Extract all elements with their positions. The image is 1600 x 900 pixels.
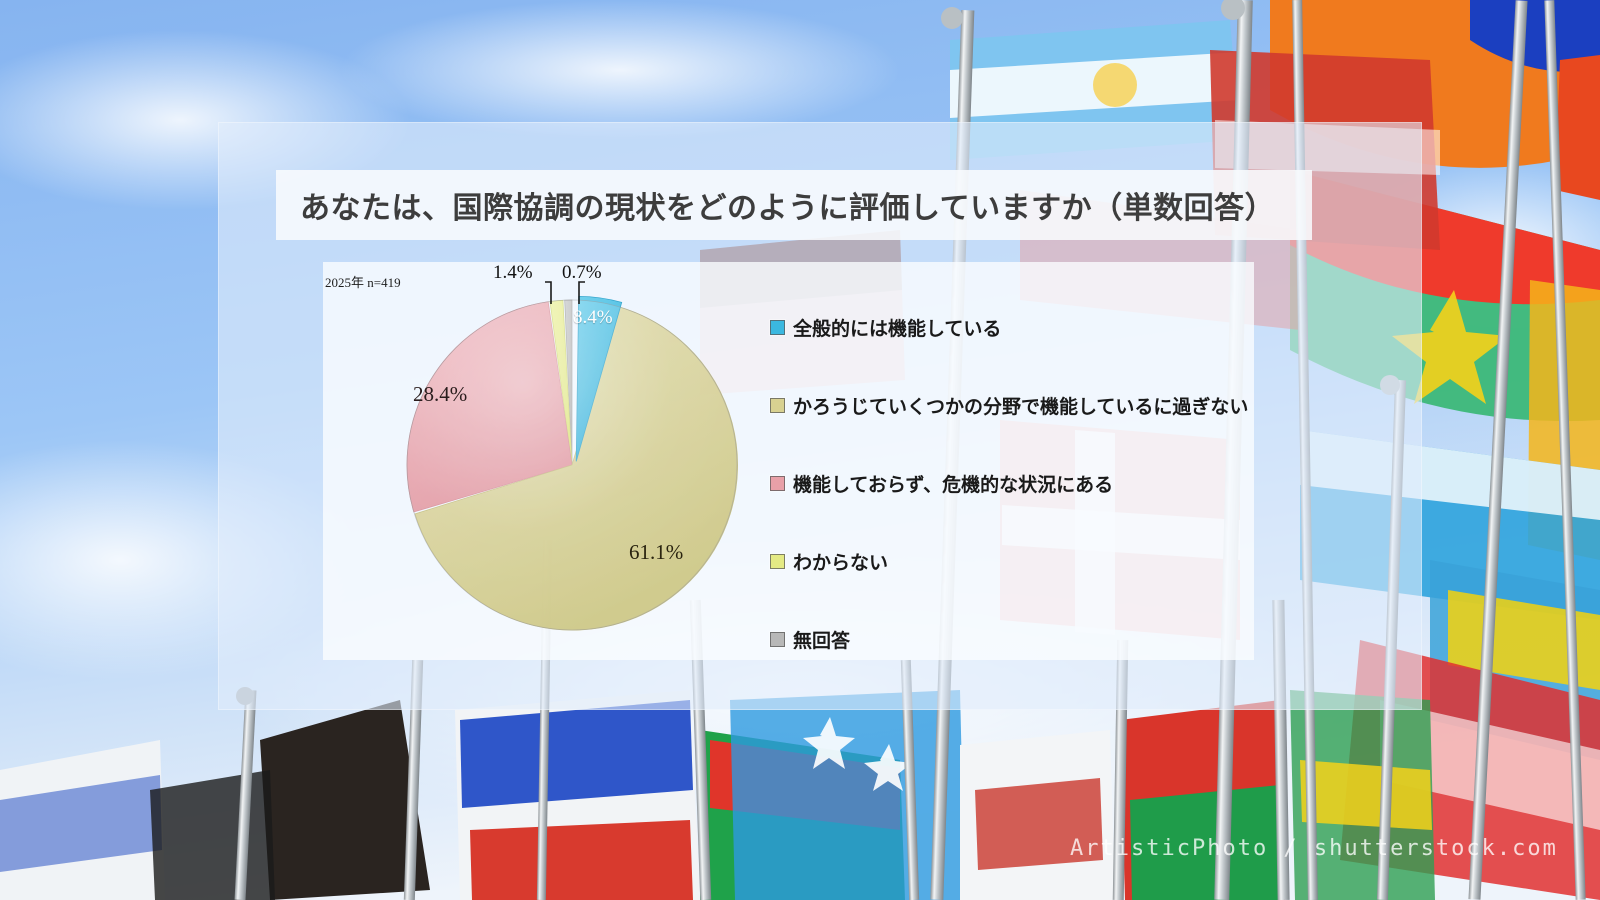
pie-chart xyxy=(323,262,803,662)
legend-swatch-icon xyxy=(770,632,785,647)
legend-swatch-icon xyxy=(770,554,785,569)
pie-label-61: 61.1% xyxy=(629,540,683,565)
pie-label-1-4: 1.4% xyxy=(493,262,533,284)
page-title: あなたは、国際協調の現状をどのように評価していますか（単数回答） xyxy=(300,183,1275,227)
pie-label-8: 8.4% xyxy=(573,307,613,329)
legend-item-no-answer[interactable]: 無回答 xyxy=(770,600,1270,678)
legend-item-dont-know[interactable]: わからない xyxy=(770,522,1270,600)
pie-label-28: 28.4% xyxy=(413,382,467,407)
legend-swatch-icon xyxy=(770,320,785,335)
pie-label-0-7: 0.7% xyxy=(562,262,602,284)
legend-swatch-icon xyxy=(770,398,785,413)
legend-swatch-icon xyxy=(770,476,785,491)
chart-legend: 全般的には機能している かろうじていくつかの分野で機能しているに過ぎない 機能し… xyxy=(770,288,1270,678)
legend-label: かろうじていくつかの分野で機能しているに過ぎない xyxy=(793,392,1248,419)
title-banner: あなたは、国際協調の現状をどのように評価していますか（単数回答） xyxy=(276,170,1312,240)
legend-label: 機能しておらず、危機的な状況にある xyxy=(793,470,1113,497)
legend-label: 無回答 xyxy=(793,626,850,653)
legend-label: わからない xyxy=(793,548,888,575)
screenshot-root: あなたは、国際協調の現状をどのように評価していますか（単数回答） 2025年 n… xyxy=(0,0,1600,900)
legend-item-barely-functioning[interactable]: かろうじていくつかの分野で機能しているに過ぎない xyxy=(770,366,1270,444)
legend-label: 全般的には機能している xyxy=(793,314,1001,341)
legend-item-functioning[interactable]: 全般的には機能している xyxy=(770,288,1270,366)
stock-watermark: ArtisticPhoto / shutterstock.com xyxy=(1070,836,1558,861)
legend-item-crisis[interactable]: 機能しておらず、危機的な状況にある xyxy=(770,444,1270,522)
